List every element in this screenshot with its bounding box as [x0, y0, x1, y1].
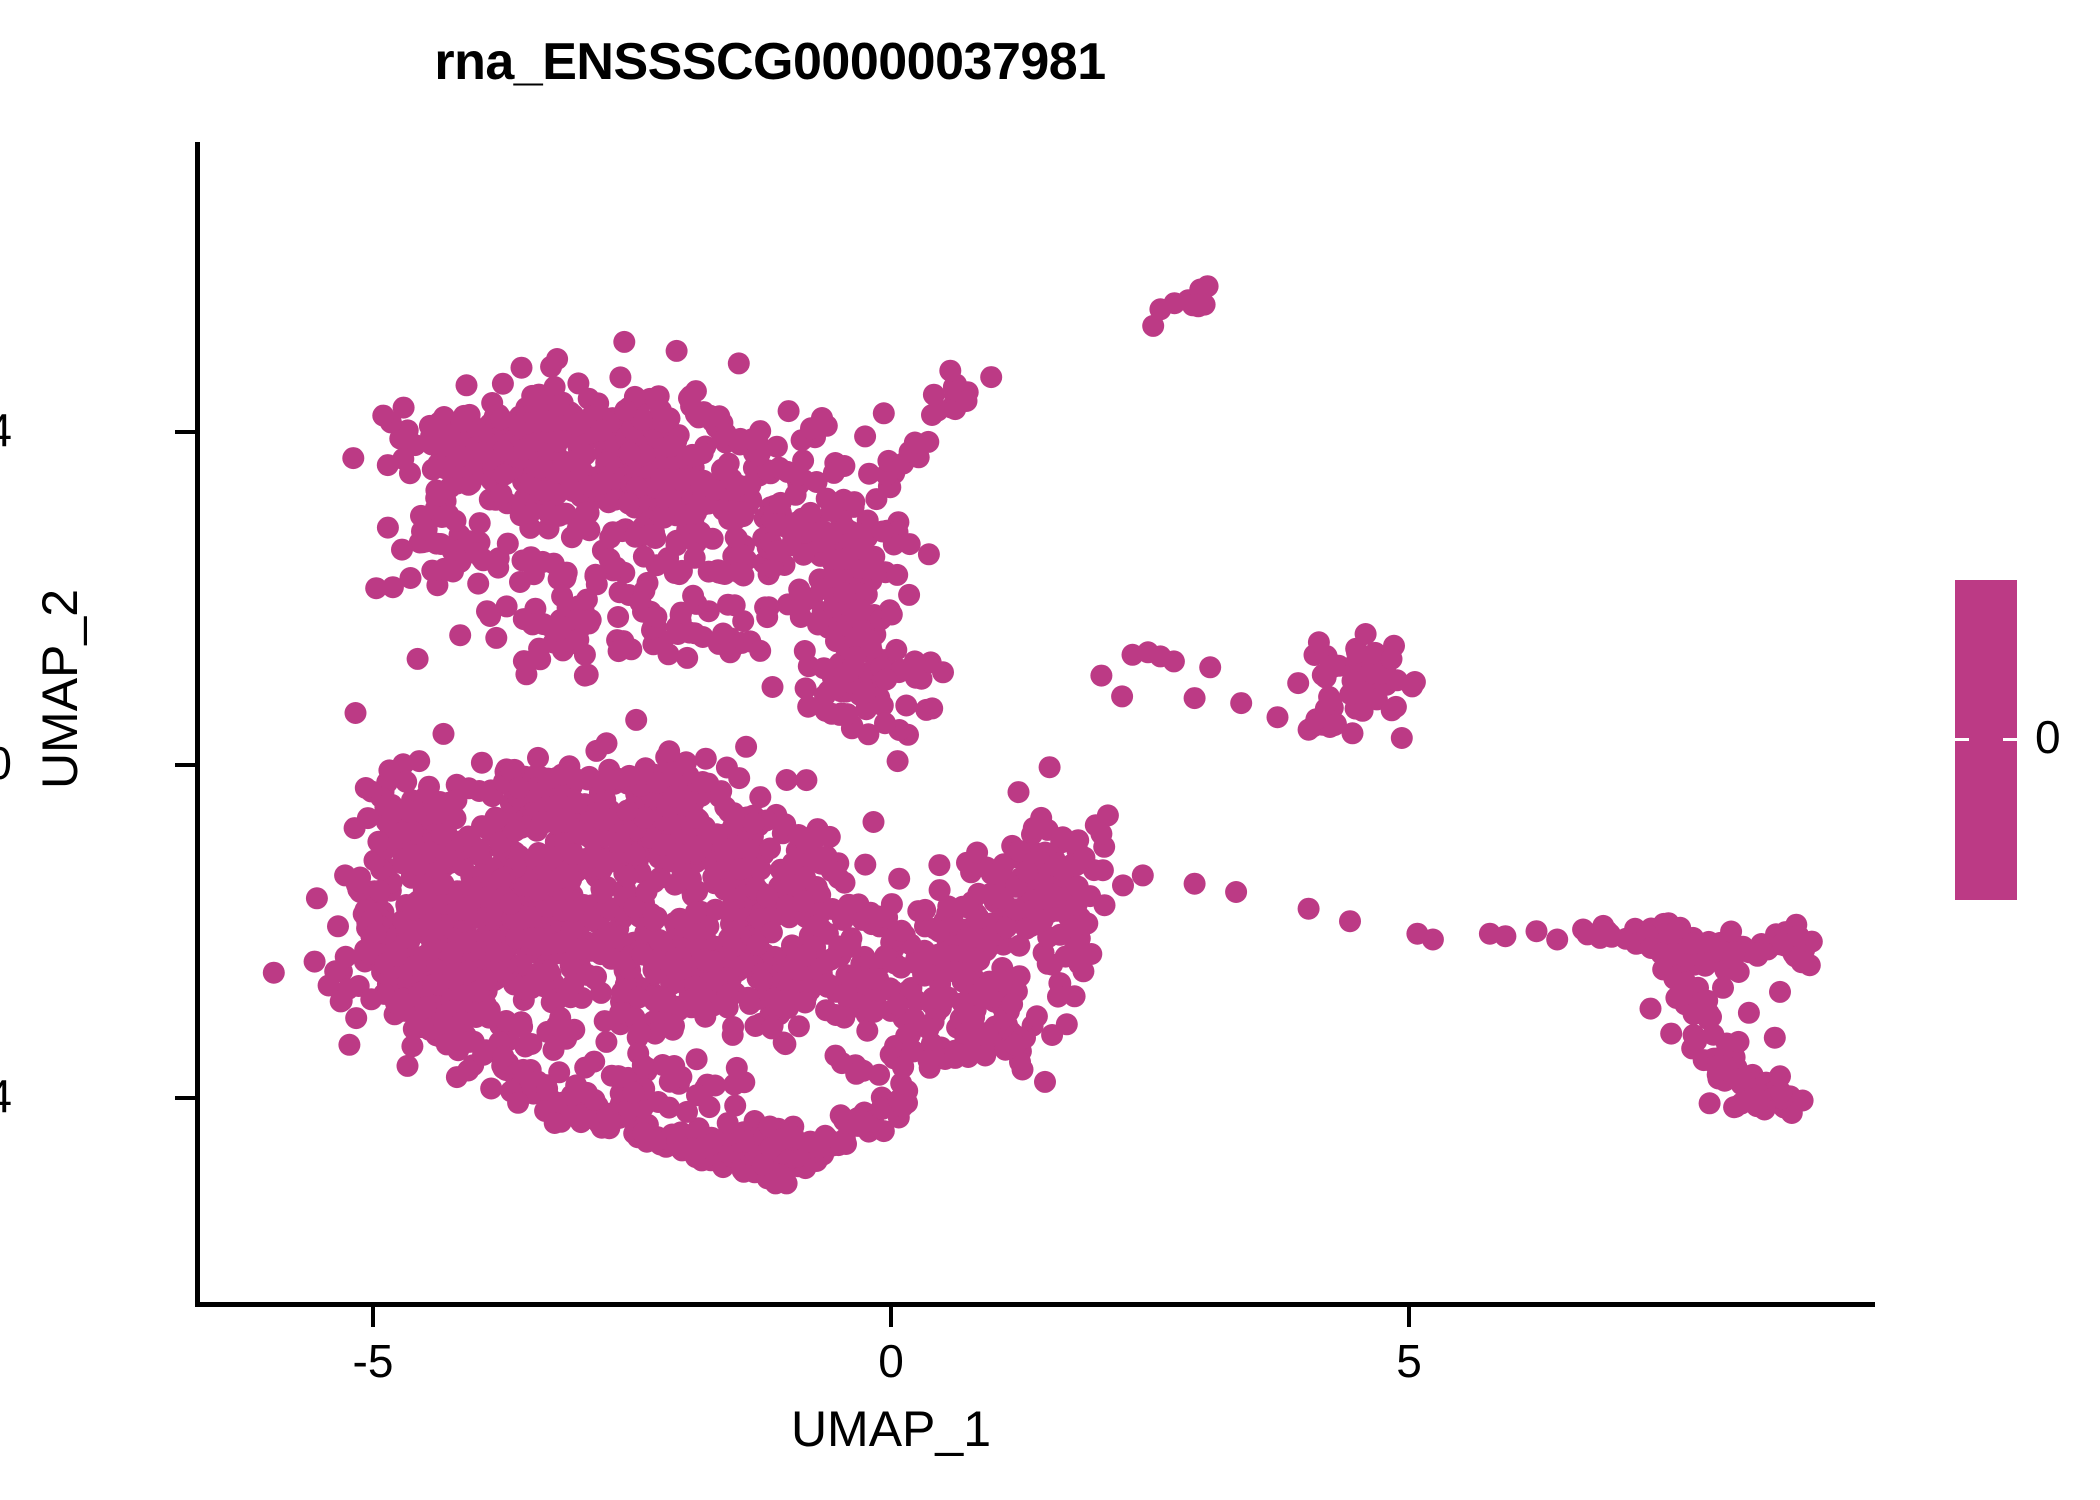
- colorbar-gradient: [1955, 580, 2017, 900]
- colorbar-tick-label-0: 0: [2035, 714, 2061, 760]
- x-tick-label-0: 0: [811, 1338, 971, 1384]
- x-tick-mark-minus5: [371, 1307, 375, 1327]
- x-axis-line: [195, 1302, 1875, 1307]
- y-tick-mark-0: [175, 763, 195, 767]
- y-axis-line: [195, 142, 200, 1307]
- x-tick-label-5: 5: [1329, 1338, 1489, 1384]
- y-tick-label-minus4: -4: [0, 1073, 12, 1119]
- scatter-points-layer: [0, 0, 2100, 1500]
- page-title: rna_ENSSSCG00000037981: [0, 32, 1540, 92]
- legend-colorbar[interactable]: 0: [1955, 580, 2100, 910]
- x-tick-mark-0: [889, 1307, 893, 1327]
- y-axis-title: UMAP_2: [31, 489, 89, 889]
- colorbar-tick-left: [1955, 738, 1969, 741]
- x-axis-title: UMAP_1: [691, 1400, 1091, 1458]
- x-tick-mark-5: [1407, 1307, 1411, 1327]
- y-tick-label-4: 4: [0, 407, 12, 453]
- x-tick-label-minus5: -5: [293, 1338, 453, 1384]
- y-tick-mark-minus4: [175, 1096, 195, 1100]
- umap-feature-plot: rna_ENSSSCG00000037981 4 0 -4 -5 0 5 UMA…: [0, 0, 2100, 1500]
- colorbar-tick-right: [2003, 738, 2017, 741]
- y-tick-label-0: 0: [0, 740, 12, 786]
- y-tick-mark-4: [175, 430, 195, 434]
